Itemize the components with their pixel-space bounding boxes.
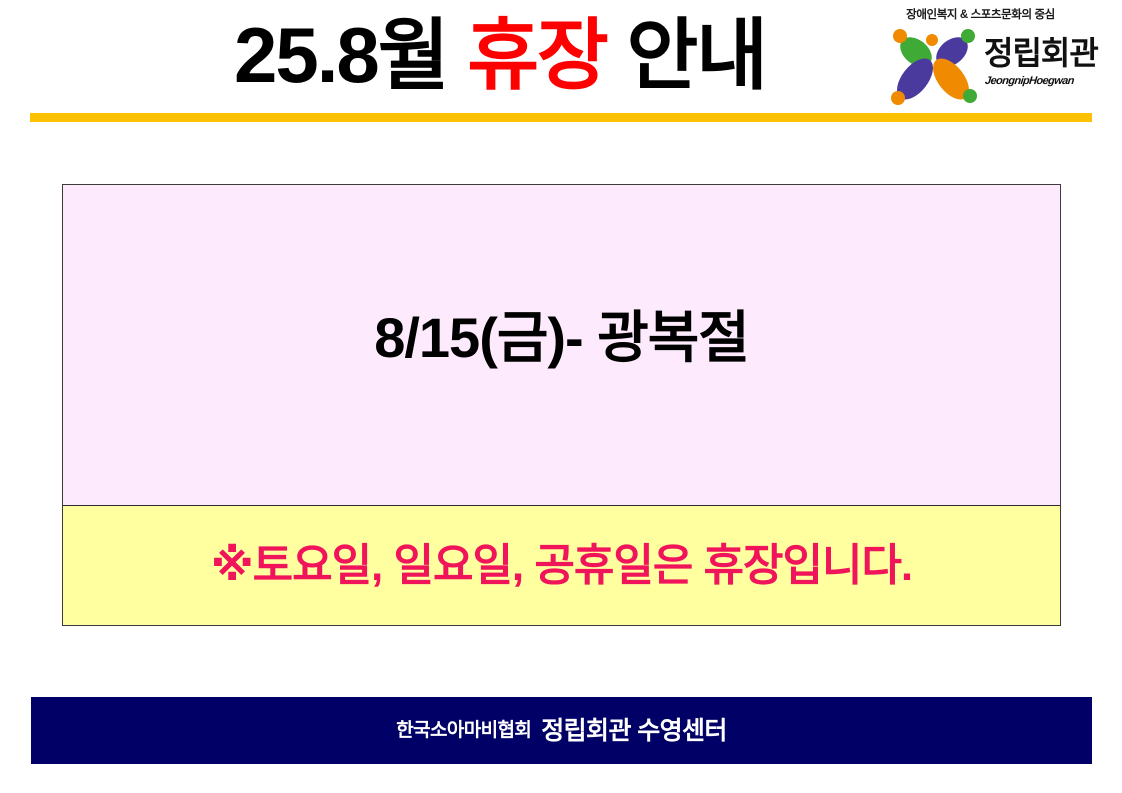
logo-hangul-text: 정립회관 — [984, 34, 1083, 72]
footer-organization: 한국소아마비협회 — [396, 718, 531, 744]
page-title-accent: 휴장 — [467, 11, 607, 99]
logo-wordmark: 정립회관 JeongnipHoegwan — [984, 34, 1083, 108]
jeongniphoegwan-logo: 장애인복지 & 스포츠문화의 중심 정립회관 Jeongnip — [878, 8, 1083, 112]
notice-section: ※토요일, 일요일, 공휴일은 휴장입니다. — [63, 506, 1060, 625]
poster-header: 25.8월 휴장 안내 장애인복지 & 스포츠문화의 중심 — [0, 0, 1122, 118]
page-title: 25.8월 휴장 안내 — [150, 6, 850, 104]
holiday-text: 8/15(금)- 광복절 — [374, 303, 749, 373]
header-divider — [30, 113, 1092, 122]
page-title-suffix: 안내 — [607, 11, 766, 99]
footer-center-name: 정립회관 수영센터 — [541, 715, 727, 747]
logo-x-mark-icon — [880, 26, 984, 108]
notice-card: 8/15(금)- 광복절 ※토요일, 일요일, 공휴일은 휴장입니다. — [62, 184, 1061, 626]
holiday-section: 8/15(금)- 광복절 — [63, 185, 1060, 506]
logo-tagline: 장애인복지 & 스포츠문화의 중심 — [878, 8, 1083, 23]
logo-roman-text: JeongnipHoegwan — [984, 74, 1084, 88]
notice-text: ※토요일, 일요일, 공휴일은 휴장입니다. — [211, 538, 912, 594]
poster-footer: 한국소아마비협회 정립회관 수영센터 — [31, 697, 1092, 764]
page-title-prefix: 25.8월 — [234, 11, 467, 99]
